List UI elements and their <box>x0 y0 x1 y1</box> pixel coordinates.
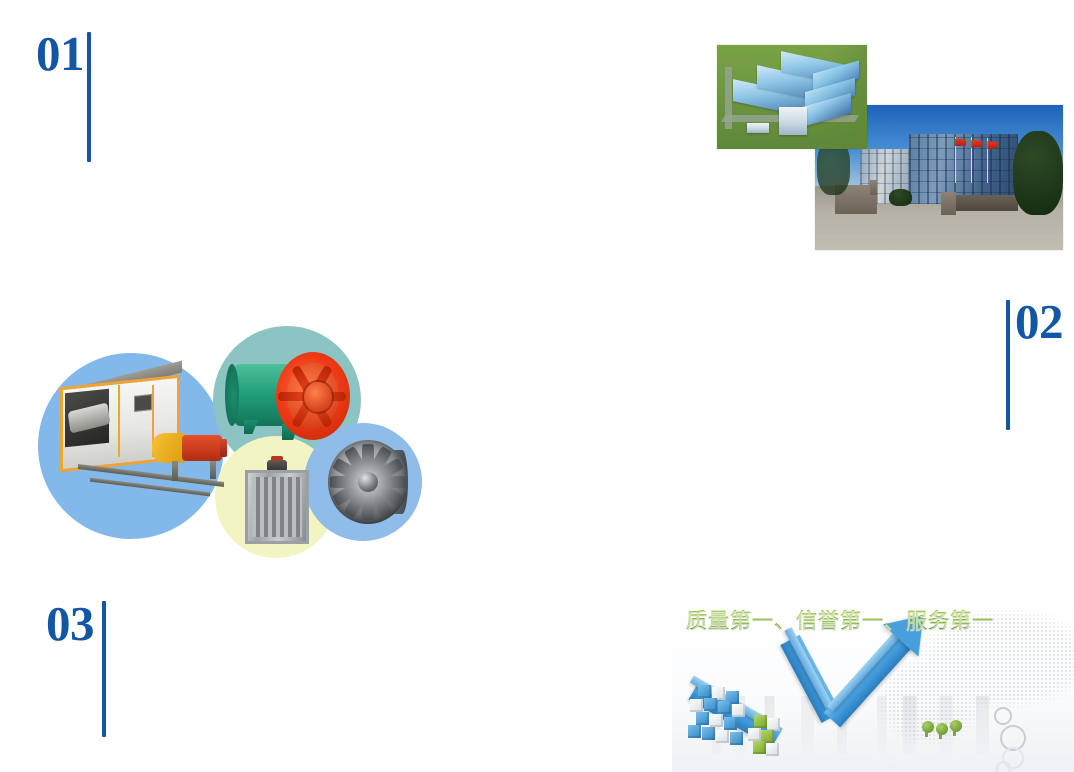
cube-b8 <box>702 727 715 740</box>
cube-b5 <box>696 712 709 725</box>
slogan-text: 质量第一、信誉第一、服务第一 <box>686 605 994 635</box>
render-gatehouse <box>747 123 769 133</box>
section-number-03: 03 <box>46 598 94 650</box>
bubble-faint-2 <box>996 761 1011 772</box>
red-flag-3 <box>987 141 998 149</box>
cube-w3 <box>732 704 745 717</box>
green-cube-stack <box>748 715 782 747</box>
impeller-shroud <box>328 440 408 524</box>
tree-icon-3 <box>950 720 962 736</box>
cube-b7 <box>688 725 701 738</box>
axial-fan-foot-1 <box>244 420 258 434</box>
section-marker-02: 02 <box>1006 296 1063 430</box>
cube-g3 <box>753 741 766 754</box>
factory-aerial-rendering <box>717 45 867 149</box>
facility-photo-group <box>715 44 1067 254</box>
bubble-small <box>994 707 1012 725</box>
section-rule-03 <box>102 601 106 737</box>
cube-w4 <box>710 714 723 727</box>
cube-w5 <box>716 730 729 743</box>
section-number-02: 02 <box>1015 296 1063 348</box>
product-photo-group <box>30 318 430 558</box>
section-number-01: 01 <box>36 28 84 80</box>
impeller-hub <box>358 472 378 492</box>
render-road-side <box>725 67 732 129</box>
blue-cube-stack <box>688 685 748 747</box>
damper-frame <box>245 470 309 544</box>
product-cabinet-centrifugal-fan <box>60 373 230 508</box>
cube-b1 <box>698 685 711 698</box>
product-metal-fan-impeller <box>322 436 418 530</box>
photo-gate-pillar <box>941 192 956 215</box>
section-marker-03: 03 <box>46 598 106 737</box>
cube-w2 <box>690 699 703 712</box>
cube-gw3 <box>766 743 779 756</box>
cabinet-control-box <box>134 394 152 412</box>
red-flag-2 <box>971 140 982 148</box>
section-rule-02 <box>1006 300 1010 430</box>
cube-b4 <box>718 701 731 714</box>
axial-fan-hub <box>304 382 332 412</box>
tree-icon-1 <box>922 721 934 737</box>
cabinet-yellow-cone <box>152 433 186 463</box>
photo-post <box>870 180 877 195</box>
section-rule-01 <box>87 32 91 162</box>
slogan-banner: 质量第一、信誉第一、服务第一 <box>672 597 1074 772</box>
cube-b9 <box>730 732 743 745</box>
red-flag-1 <box>955 138 966 146</box>
cube-gw2 <box>748 728 761 741</box>
tree-icon-2 <box>936 723 948 739</box>
cabinet-panel-seam-1 <box>118 385 120 457</box>
photo-shrub <box>889 189 911 206</box>
section-marker-01: 01 <box>36 28 91 162</box>
product-air-damper-louver <box>245 460 311 546</box>
cabinet-base-leg-1 <box>172 461 178 481</box>
page-root: 01 <box>0 0 1074 772</box>
render-office-block <box>779 107 807 135</box>
cabinet-red-motor <box>182 435 222 461</box>
cabinet-base-leg-2 <box>210 461 216 479</box>
cube-b6 <box>724 717 737 730</box>
cube-b3 <box>704 698 717 711</box>
cube-g1 <box>754 715 767 728</box>
cabinet-base-rail-1 <box>78 464 224 487</box>
photo-tree-right <box>1013 131 1063 215</box>
